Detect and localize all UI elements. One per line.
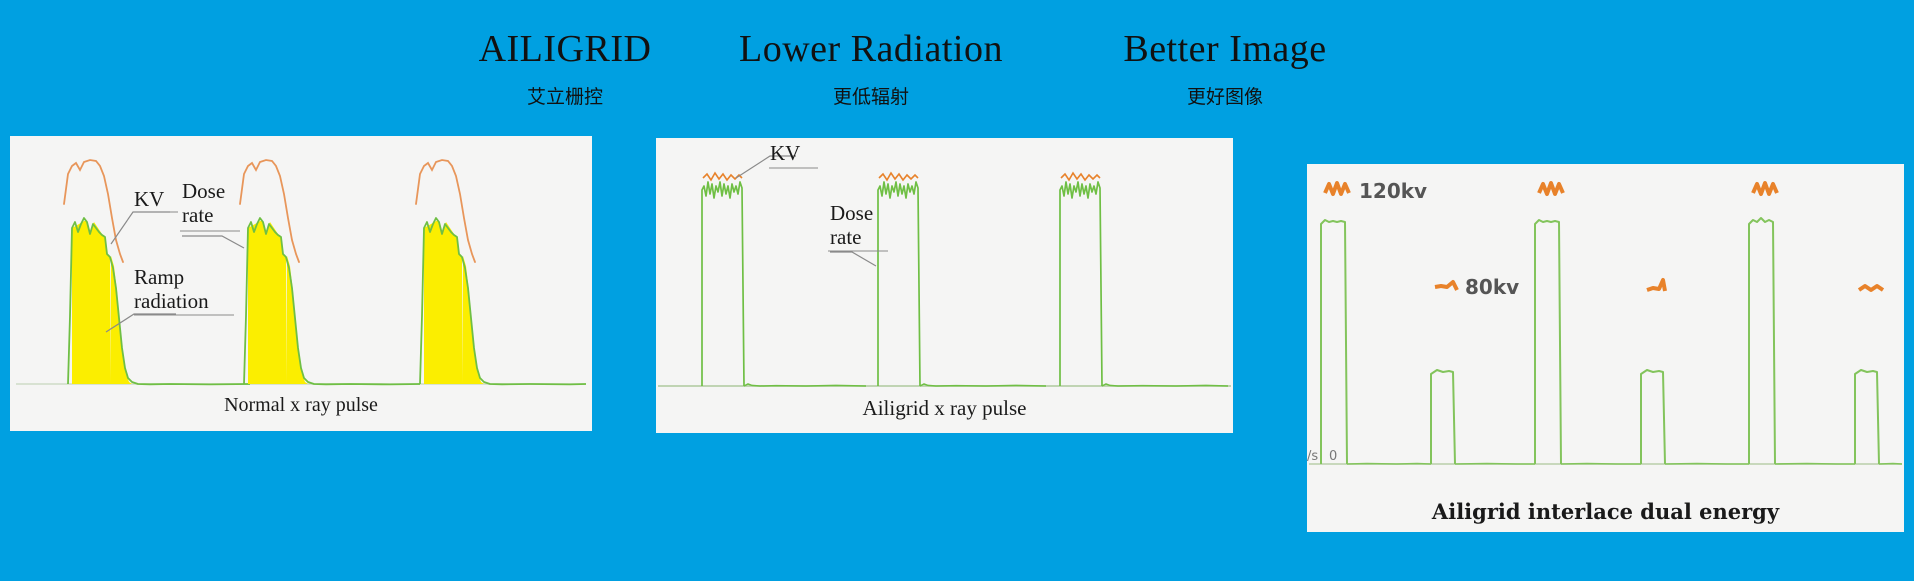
dose-rate-leader-line	[182, 236, 244, 248]
chart-panel-ailigrid-pulse: KV Dose rate Ailigrid x ray pulse	[656, 138, 1233, 433]
kv-marker-icon	[1647, 280, 1665, 291]
kv-annotation-label: KV	[134, 187, 164, 211]
dose-rate-annotation-label-1: Dose	[830, 201, 873, 225]
pulse-80kv	[1431, 370, 1455, 464]
header-title-en: Better Image	[1000, 30, 1450, 68]
panel-caption: Ailigrid interlace dual energy	[1307, 499, 1904, 524]
pulse-120kv	[1321, 220, 1347, 464]
dose-rate-leader-line	[830, 252, 876, 266]
kv-marker-icon	[1325, 183, 1349, 194]
kv-marker-icon	[1539, 183, 1563, 194]
header-title-cn: 更好图像	[1000, 82, 1450, 109]
ramp-annotation-label-1: Ramp	[134, 265, 184, 289]
kv-leader-line	[111, 212, 170, 244]
dose-rate-annotation-label-2: rate	[830, 225, 861, 249]
kv-trace	[879, 173, 918, 180]
axis-unit-label: /s	[1307, 449, 1318, 464]
pulse-80kv	[1855, 370, 1879, 464]
chart-panel-dual-energy: 120kv 80kv /s 0 Ailigrid interlace dual …	[1307, 164, 1904, 532]
axis-zero-label: 0	[1329, 449, 1337, 464]
header-banner: AILIGRID 艾立栅控 Lower Radiation 更低辐射 Bette…	[0, 0, 1914, 135]
panel-caption: Ailigrid x ray pulse	[656, 396, 1233, 421]
dose-rate-trace	[702, 182, 744, 386]
dose-rate-annotation-label-2: rate	[182, 203, 213, 227]
dose-rate-tail	[744, 384, 866, 386]
dose-rate-tail	[1102, 384, 1228, 386]
ramp-annotation-label-2: radiation	[134, 289, 209, 313]
legend-80kv-label: 80kv	[1465, 275, 1519, 299]
kv-marker-icon	[1435, 282, 1457, 290]
dual-energy-plot: 120kv 80kv /s 0	[1307, 164, 1904, 482]
kv-annotation-label: KV	[770, 141, 800, 165]
kv-trace	[703, 173, 742, 180]
dose-rate-annotation-label-1: Dose	[182, 179, 225, 203]
normal-pulse-plot: KV Dose rate Ramp radiation	[10, 136, 592, 396]
pulse-120kv	[1749, 218, 1775, 464]
pulse-80kv	[1641, 370, 1665, 464]
kv-marker-icon	[1859, 286, 1883, 290]
ailigrid-pulse-plot: KV Dose rate	[656, 138, 1233, 396]
legend-120kv-label: 120kv	[1359, 179, 1427, 203]
dose-rate-trace	[1060, 182, 1102, 386]
kv-marker-icon	[1753, 183, 1777, 194]
chart-panel-normal-pulse: KV Dose rate Ramp radiation Normal x ray…	[10, 136, 592, 431]
panel-caption: Normal x ray pulse	[10, 394, 592, 417]
header-group-better-image: Better Image 更好图像	[1000, 30, 1450, 109]
pulse-120kv	[1535, 220, 1561, 464]
dose-rate-tail	[920, 384, 1046, 386]
dose-rate-trace	[878, 182, 920, 386]
kv-trace	[1061, 173, 1100, 180]
